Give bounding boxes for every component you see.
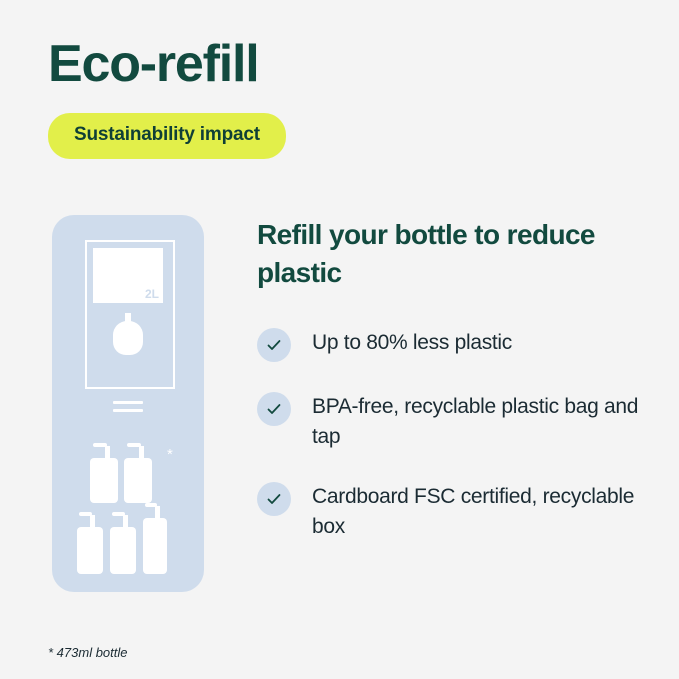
- pump-bottle-icon: [90, 443, 118, 503]
- divider-lines: [113, 401, 143, 417]
- pump-bottle-icon: [110, 512, 136, 574]
- bottle-body: [124, 458, 152, 503]
- tall-bottle-icon: [143, 503, 167, 574]
- section-headline: Refill your bottle to reduce plastic: [257, 216, 627, 292]
- page-title: Eco-refill: [48, 34, 259, 94]
- poster-page: Eco-refill Sustainability impact 2L *: [0, 0, 679, 679]
- divider-line: [113, 401, 143, 404]
- pouch-icon: [113, 313, 143, 355]
- footnote-asterisk: *: [167, 447, 173, 462]
- benefits-list: Up to 80% less plastic BPA-free, recycla…: [257, 326, 657, 570]
- list-item: Cardboard FSC certified, recyclable box: [257, 480, 657, 542]
- bottle-body: [77, 527, 103, 574]
- box-volume-label: 2L: [145, 287, 159, 301]
- check-icon: [257, 392, 291, 426]
- bottle-neck: [139, 446, 144, 458]
- divider-line: [113, 409, 143, 412]
- bottle-neck: [105, 446, 110, 458]
- bottle-neck: [90, 515, 95, 527]
- list-item: Up to 80% less plastic: [257, 326, 657, 362]
- pump-bottle-icon: [77, 512, 103, 574]
- check-icon: [257, 482, 291, 516]
- bottle-body: [143, 518, 167, 574]
- bottle-neck: [155, 506, 160, 518]
- box-label-area: 2L: [93, 248, 163, 303]
- list-item-label: Up to 80% less plastic: [312, 326, 512, 358]
- pump-bottle-icon: [124, 443, 152, 503]
- pouch-body: [113, 321, 143, 355]
- bottle-body: [110, 527, 136, 574]
- status-badge: Sustainability impact: [48, 113, 286, 159]
- illustration-panel: 2L *: [52, 215, 204, 592]
- footnote: * 473ml bottle: [48, 645, 128, 660]
- list-item-label: Cardboard FSC certified, recyclable box: [312, 480, 657, 542]
- list-item: BPA-free, recyclable plastic bag and tap: [257, 390, 657, 452]
- bottle-neck: [123, 515, 128, 527]
- list-item-label: BPA-free, recyclable plastic bag and tap: [312, 390, 657, 452]
- check-icon: [257, 328, 291, 362]
- bottle-body: [90, 458, 118, 503]
